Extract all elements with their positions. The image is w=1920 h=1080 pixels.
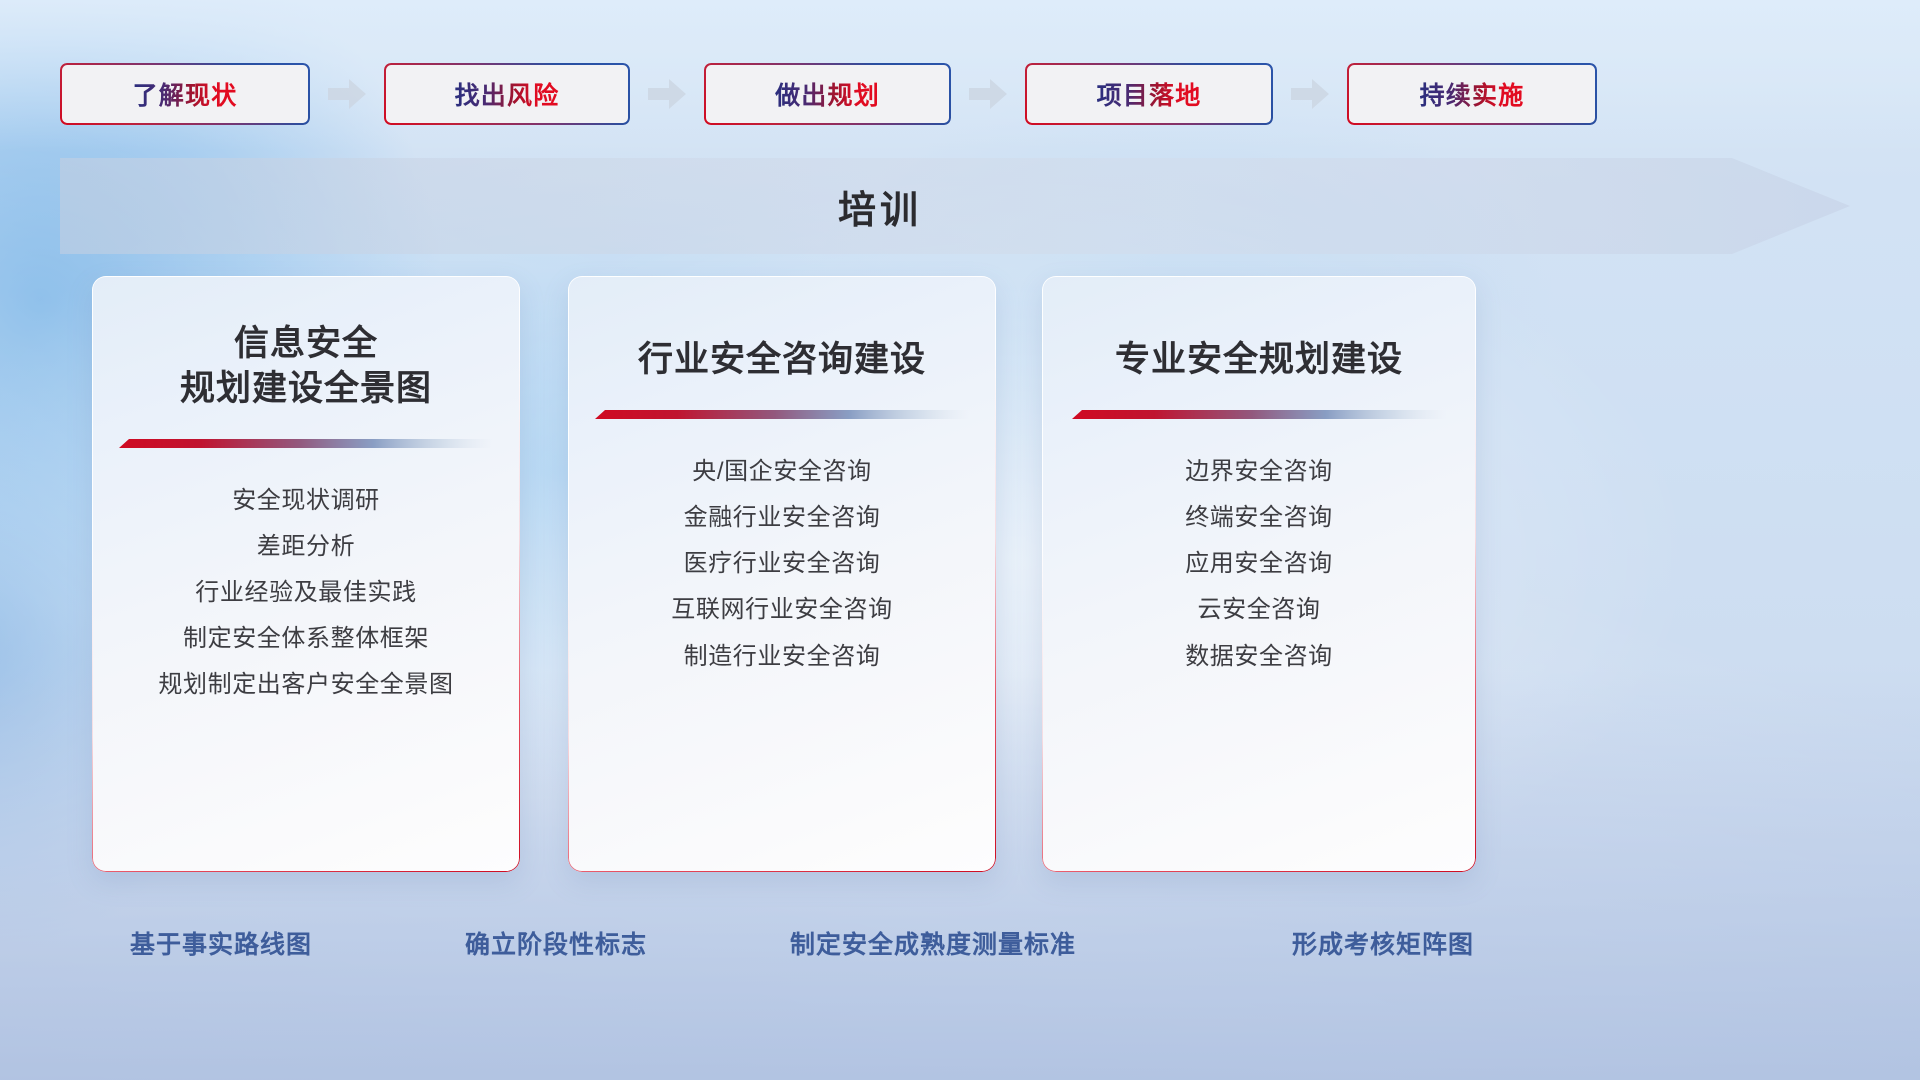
training-banner: 培训 bbox=[60, 158, 1850, 254]
card-list-item: 规划制定出客户安全全景图 bbox=[158, 666, 453, 703]
banner-title: 培训 bbox=[60, 158, 1700, 254]
card-title: 信息安全 规划建设全景图 bbox=[180, 322, 432, 412]
card-divider bbox=[119, 438, 493, 452]
footer-label: 基于事实路线图 bbox=[130, 925, 312, 961]
step-label-5: 持续实施 bbox=[1420, 76, 1525, 112]
step-box-4[interactable]: 项目落地 bbox=[1025, 63, 1273, 125]
process-steps: 了解现状 找出风险 做出规划 项目落地 持续实施 bbox=[60, 63, 1860, 125]
card-list-item: 云安全咨询 bbox=[1198, 591, 1321, 628]
arrow-right-icon bbox=[328, 79, 366, 109]
card-list-item: 边界安全咨询 bbox=[1185, 453, 1333, 490]
arrow-right-icon bbox=[1291, 79, 1329, 109]
arrow-right-icon bbox=[648, 79, 686, 109]
card-list-item: 数据安全咨询 bbox=[1185, 638, 1333, 675]
step-label-4: 项目落地 bbox=[1097, 76, 1202, 112]
arrow-right-icon bbox=[969, 79, 1007, 109]
card-divider bbox=[1072, 409, 1446, 423]
card-list-item: 行业经验及最佳实践 bbox=[195, 574, 416, 611]
card-title: 行业安全咨询建设 bbox=[638, 338, 926, 383]
card-list-item: 制造行业安全咨询 bbox=[684, 638, 881, 675]
card-panel[interactable]: 信息安全 规划建设全景图 bbox=[92, 276, 520, 872]
card-list-item: 终端安全咨询 bbox=[1185, 499, 1333, 536]
step-box-3[interactable]: 做出规划 bbox=[704, 63, 951, 125]
card-list-item: 互联网行业安全咨询 bbox=[671, 591, 892, 628]
card-item-list: 边界安全咨询 终端安全咨询 应用安全咨询 云安全咨询 数据安全咨询 bbox=[1064, 453, 1454, 675]
card-title: 专业安全规划建设 bbox=[1115, 338, 1403, 383]
card-panel[interactable]: 专业安全规划建设 bbox=[1042, 276, 1476, 872]
card-item-list: 安全现状调研 差距分析 行业经验及最佳实践 制定安全体系整体框架 规划制定出客户… bbox=[114, 482, 498, 704]
card-list-item: 医疗行业安全咨询 bbox=[684, 545, 881, 582]
step-box-2[interactable]: 找出风险 bbox=[384, 63, 630, 125]
card-list-item: 安全现状调研 bbox=[232, 482, 380, 519]
card-list-item: 制定安全体系整体框架 bbox=[183, 620, 429, 657]
footer-label: 确立阶段性标志 bbox=[465, 925, 647, 961]
card-list-item: 金融行业安全咨询 bbox=[684, 499, 881, 536]
card-list-item: 应用安全咨询 bbox=[1185, 545, 1333, 582]
footer-label: 形成考核矩阵图 bbox=[1292, 925, 1474, 961]
step-box-5[interactable]: 持续实施 bbox=[1347, 63, 1597, 125]
step-box-1[interactable]: 了解现状 bbox=[60, 63, 310, 125]
card-panel[interactable]: 行业安全咨询建设 bbox=[568, 276, 996, 872]
card-divider bbox=[595, 409, 969, 423]
step-label-1: 了解现状 bbox=[133, 76, 238, 112]
slide-stage: 了解现状 找出风险 做出规划 项目落地 持续实施 bbox=[0, 0, 1920, 1080]
card-item-list: 央/国企安全咨询 金融行业安全咨询 医疗行业安全咨询 互联网行业安全咨询 制造行… bbox=[590, 453, 974, 675]
step-label-3: 做出规划 bbox=[775, 76, 880, 112]
footer-label: 制定安全成熟度测量标准 bbox=[790, 925, 1076, 961]
card-list-item: 差距分析 bbox=[257, 528, 355, 565]
card-list-item: 央/国企安全咨询 bbox=[692, 453, 871, 490]
footer-label-row: 基于事实路线图 确立阶段性标志 制定安全成熟度测量标准 形成考核矩阵图 bbox=[0, 925, 1920, 965]
step-label-2: 找出风险 bbox=[455, 76, 560, 112]
